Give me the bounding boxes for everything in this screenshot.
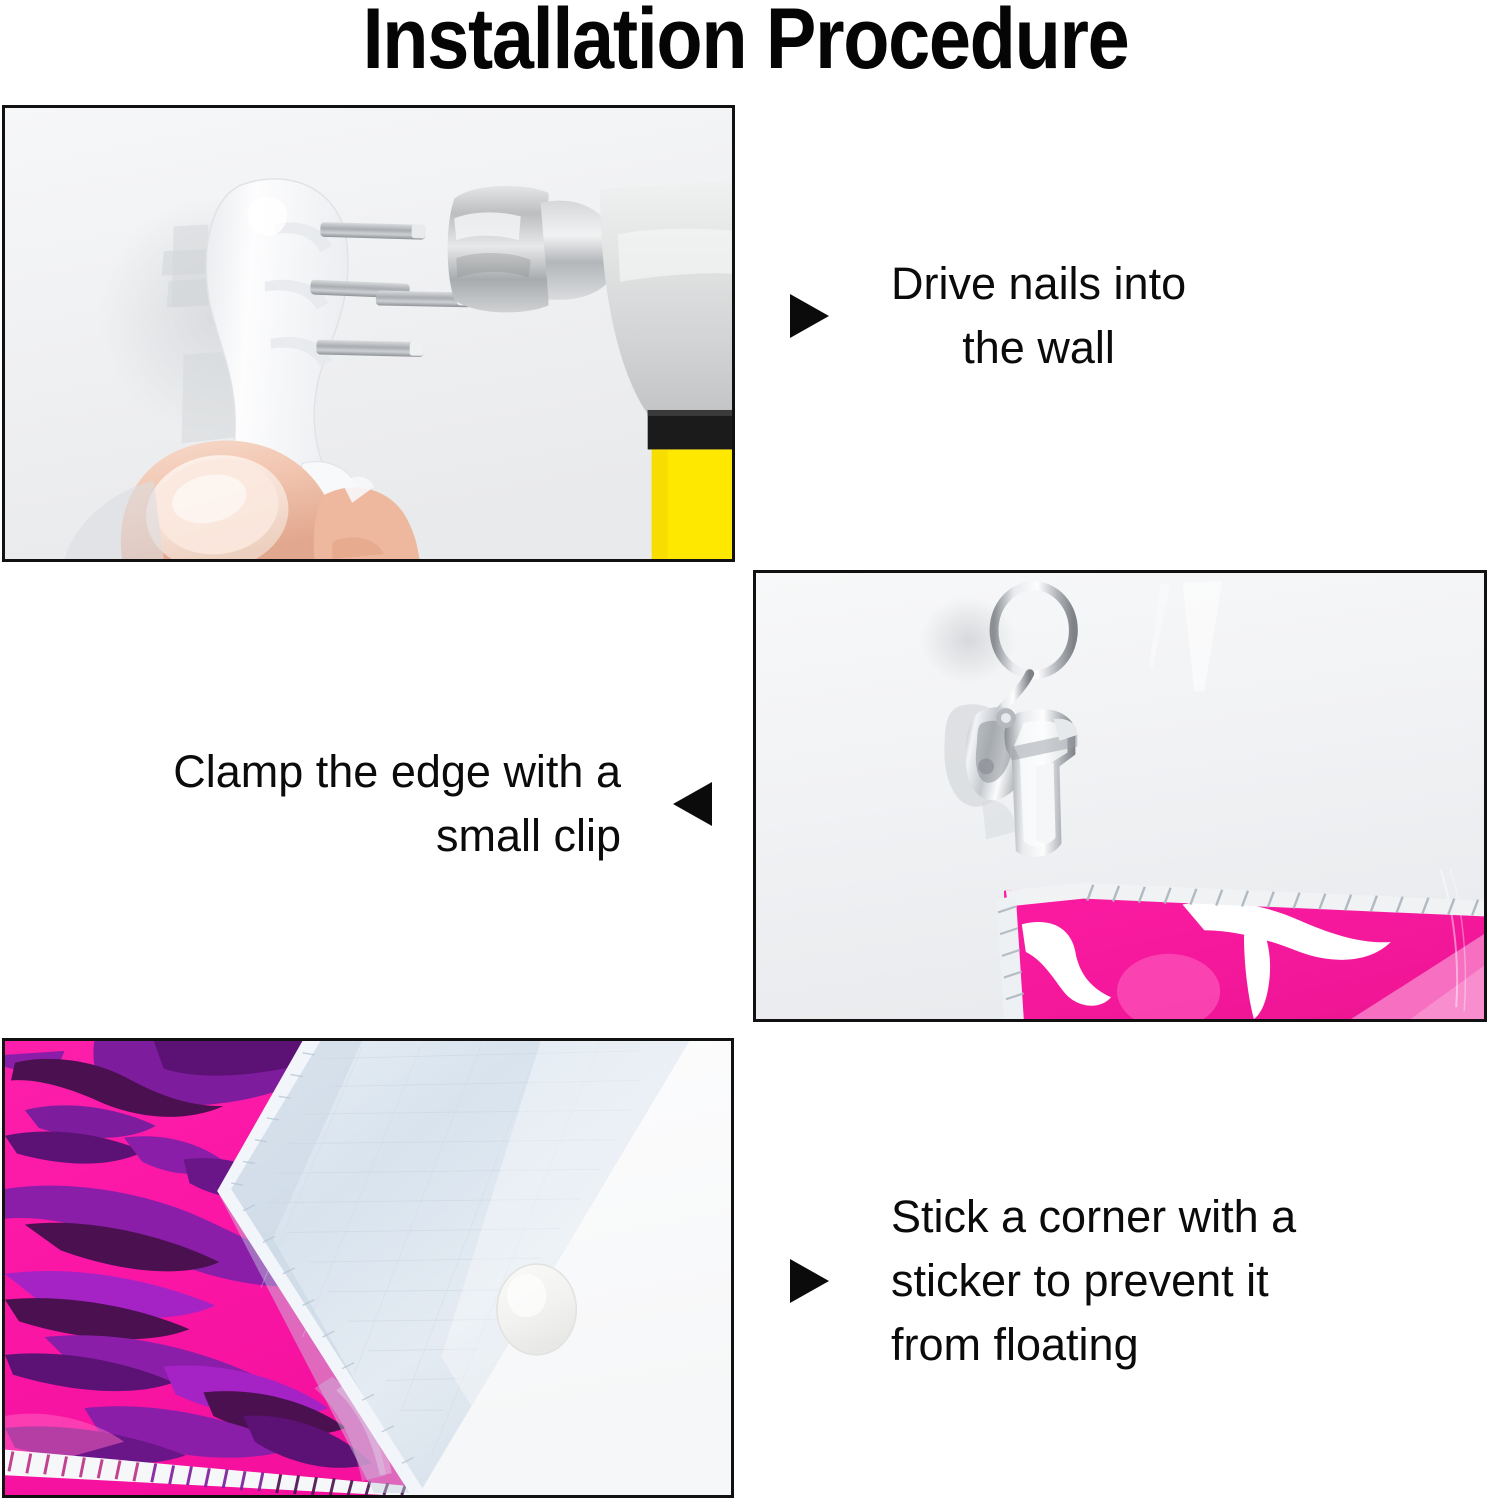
triangle-right-icon bbox=[790, 294, 829, 338]
hammer-and-nail-hook-photo bbox=[5, 108, 732, 559]
installation-procedure-infographic: Installation Procedure bbox=[0, 0, 1491, 1500]
step-2-photo-panel bbox=[753, 570, 1487, 1022]
step-3-photo-panel bbox=[2, 1038, 734, 1498]
round-clear-sticker bbox=[497, 1264, 576, 1355]
sticker-under-banner-corner-photo bbox=[5, 1041, 731, 1495]
triangle-left-icon bbox=[673, 782, 712, 826]
step-3-caption-text: Stick a corner with a sticker to prevent… bbox=[891, 1185, 1296, 1377]
step-3-caption: Stick a corner with a sticker to prevent… bbox=[790, 1185, 1460, 1377]
step-1-caption-text: Drive nails into the wall bbox=[891, 252, 1186, 380]
clip-on-banner-corner-photo bbox=[756, 573, 1484, 1019]
page-title: Installation Procedure bbox=[89, 0, 1401, 82]
step-1-caption: Drive nails into the wall bbox=[790, 252, 1450, 380]
step-2-caption-text: Clamp the edge with a small clip bbox=[173, 740, 621, 868]
step-2-caption: Clamp the edge with a small clip bbox=[40, 740, 712, 868]
step-1-photo-panel bbox=[2, 105, 735, 562]
triangle-right-icon bbox=[790, 1259, 829, 1303]
